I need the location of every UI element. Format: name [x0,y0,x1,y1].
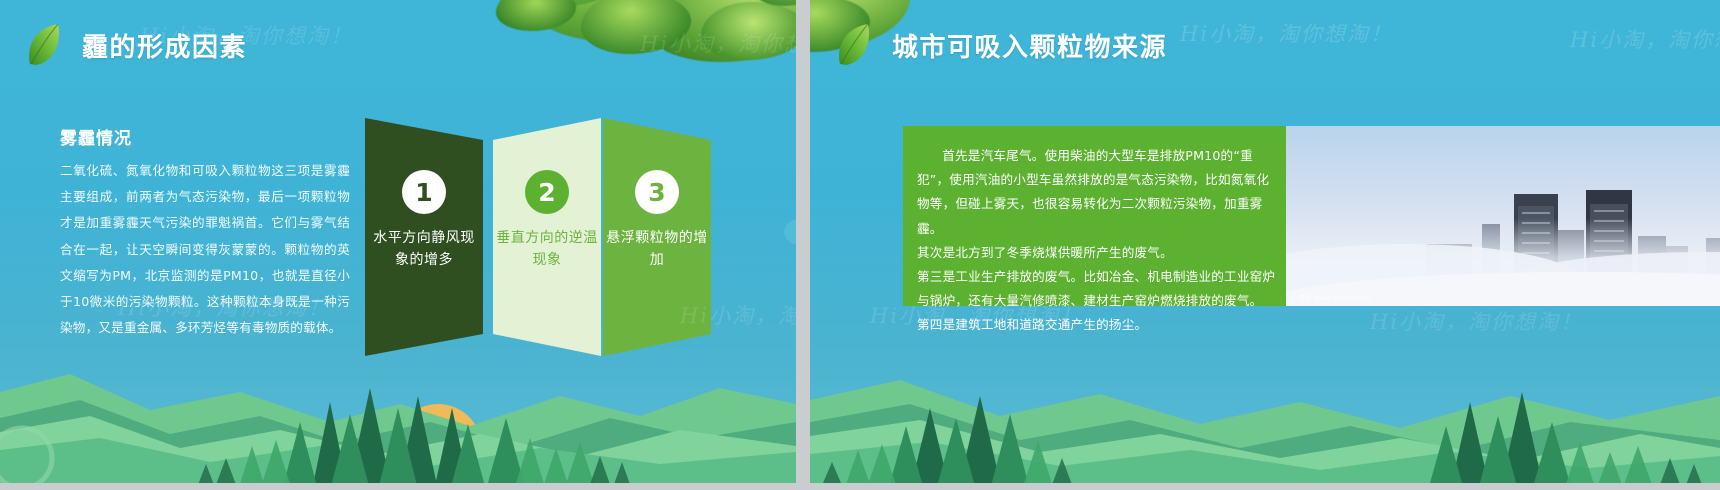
smoggy-city-skyline-photo: 汇图网 www.huitu.com [1286,126,1720,306]
chevron-step-1[interactable]: 1 水平方向静风现象的增多 [365,118,493,356]
process-chevrons: 1 水平方向静风现象的增多 2 垂直方向的逆温现象 [365,118,695,356]
slide-gutter [796,0,810,490]
presentation-stage: Hi小淘，淘你想淘！ Hi小淘，淘你想淘！ Hi小淘，淘你想淘！ Hi小淘，淘你… [0,0,1720,490]
page-title: 霾的形成因素 [82,27,247,64]
slide-left: Hi小淘，淘你想淘！ Hi小淘，淘你想淘！ Hi小淘，淘你想淘！ Hi小淘，淘你… [0,0,796,490]
bottom-bar [0,483,796,490]
step-badge: 1 [402,170,446,214]
step-label: 悬浮颗粒物的增加 [605,228,709,271]
leaf-icon [24,22,64,68]
step-number: 2 [538,180,555,205]
section-subtitle: 雾霾情况 [60,124,132,149]
cloud-icon [780,208,796,255]
photo-watermark: 汇图网 www.huitu.com [1290,293,1371,303]
leaf-icon [834,22,874,68]
panel-line: 第四是建筑工地和道路交通产生的扬尘。 [917,313,1277,337]
step-badge: 3 [635,170,679,214]
left-slide-header: 霾的形成因素 [24,22,247,68]
landscape-illustration [810,330,1720,490]
bottom-bar [810,483,1720,490]
panel-line: 其次是北方到了冬季烧煤供暖所产生的废气。 [917,241,1277,265]
content-panel: 首先是汽车尾气。使用柴油的大型车是排放PM10的“重犯”，使用汽油的小型车虽然排… [903,126,1720,306]
panel-line: 第三是工业生产排放的废气。比如冶金、机电制造业的工业窑炉与锅炉，还有大量汽修喷漆… [917,265,1277,313]
page-title: 城市可吸入颗粒物来源 [892,27,1167,64]
right-slide-header: 城市可吸入颗粒物来源 [834,22,1167,68]
step-label: 水平方向静风现象的增多 [372,228,476,271]
chevron-step-3[interactable]: 3 悬浮颗粒物的增加 [603,118,721,356]
step-badge: 2 [525,170,569,214]
slide-right: Hi小淘，淘你想淘！ Hi小淘，淘你想淘！ Hi小淘，淘你想淘！ Hi小淘，淘你… [810,0,1720,490]
chevron-step-2[interactable]: 2 垂直方向的逆温现象 [493,118,611,356]
body-paragraph: 二氧化硫、氮氧化物和可吸入颗粒物这三项是雾霾主要组成，前两者为气态污染物，最后一… [60,158,350,341]
step-number: 1 [415,180,432,205]
step-number: 3 [648,180,665,205]
panel-line: 首先是汽车尾气。使用柴油的大型车是排放PM10的“重犯”，使用汽油的小型车虽然排… [917,144,1277,241]
step-label: 垂直方向的逆温现象 [495,228,599,271]
panel-text: 首先是汽车尾气。使用柴油的大型车是排放PM10的“重犯”，使用汽油的小型车虽然排… [917,144,1277,337]
